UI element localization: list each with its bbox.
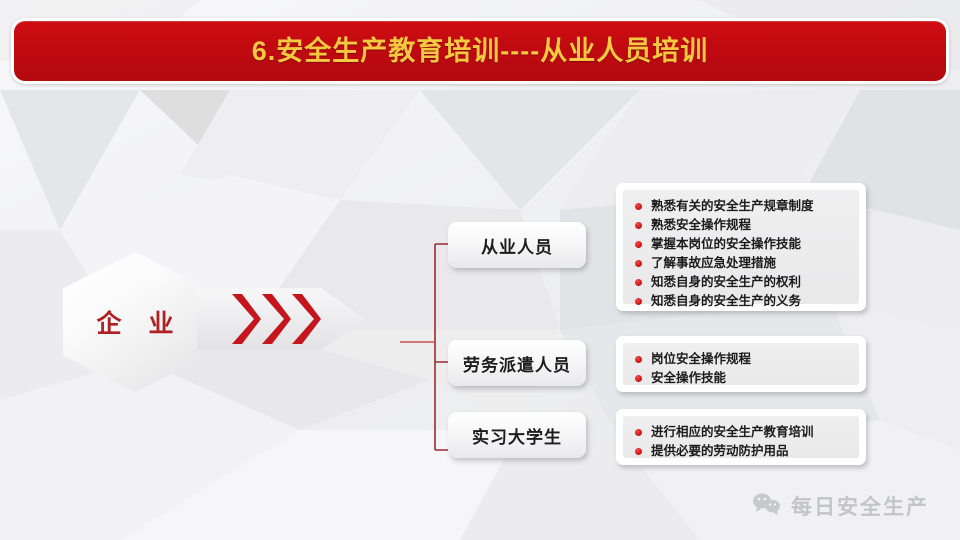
bullet-item: 知悉自身的安全生产的权利 — [635, 274, 849, 291]
bullet-item: 掌握本岗位的安全操作技能 — [635, 236, 849, 253]
page-title: 6.安全生产教育培训----从业人员培训 — [252, 38, 708, 65]
branch-label-dispatched[interactable]: 劳务派遣人员 — [448, 340, 586, 386]
bullet-dot-icon — [635, 448, 642, 455]
branch-label-text: 劳务派遣人员 — [463, 351, 571, 376]
bullet-box-interns: 进行相应的安全生产教育培训 提供必要的劳动防护用品 — [616, 409, 866, 465]
source-hexagon-label: 企 业 — [87, 304, 184, 340]
watermark: 每日安全生产 — [752, 491, 929, 521]
chevron-right-icon — [258, 288, 292, 350]
bullet-dot-icon — [635, 241, 642, 248]
bullet-item: 知悉自身的安全生产的义务 — [635, 293, 849, 310]
bullet-dot-icon — [635, 222, 642, 229]
chevron-right-icon — [288, 288, 322, 350]
chevron-right-icon — [228, 288, 262, 350]
bullet-item: 熟悉有关的安全生产规章制度 — [635, 198, 849, 215]
bullet-item: 岗位安全操作规程 — [635, 351, 849, 368]
bullet-item: 进行相应的安全生产教育培训 — [635, 424, 849, 441]
bullet-box-dispatched: 岗位安全操作规程 安全操作技能 — [616, 336, 866, 392]
slide-canvas: 6.安全生产教育培训----从业人员培训 企 业 从业人员 劳务派遣人员 实习大… — [0, 0, 960, 540]
bullet-item: 熟悉安全操作规程 — [635, 217, 849, 234]
title-banner: 6.安全生产教育培训----从业人员培训 — [14, 21, 946, 81]
bullet-item: 安全操作技能 — [635, 370, 849, 387]
bullet-dot-icon — [635, 375, 642, 382]
bullet-item: 提供必要的劳动防护用品 — [635, 443, 849, 460]
bullet-dot-icon — [635, 279, 642, 286]
branch-label-employees[interactable]: 从业人员 — [448, 222, 586, 268]
bullet-item: 了解事故应急处理措施 — [635, 255, 849, 272]
bullet-dot-icon — [635, 260, 642, 267]
wechat-icon — [752, 492, 782, 521]
bullet-box-employees: 熟悉有关的安全生产规章制度 熟悉安全操作规程 掌握本岗位的安全操作技能 了解事故… — [616, 183, 866, 311]
watermark-text: 每日安全生产 — [791, 491, 929, 521]
bullet-dot-icon — [635, 429, 642, 436]
branch-label-text: 从业人员 — [481, 233, 553, 258]
bullet-dot-icon — [635, 203, 642, 210]
bullet-dot-icon — [635, 356, 642, 363]
branch-label-text: 实习大学生 — [472, 423, 562, 448]
bullet-dot-icon — [635, 298, 642, 305]
branch-label-interns[interactable]: 实习大学生 — [448, 412, 586, 458]
